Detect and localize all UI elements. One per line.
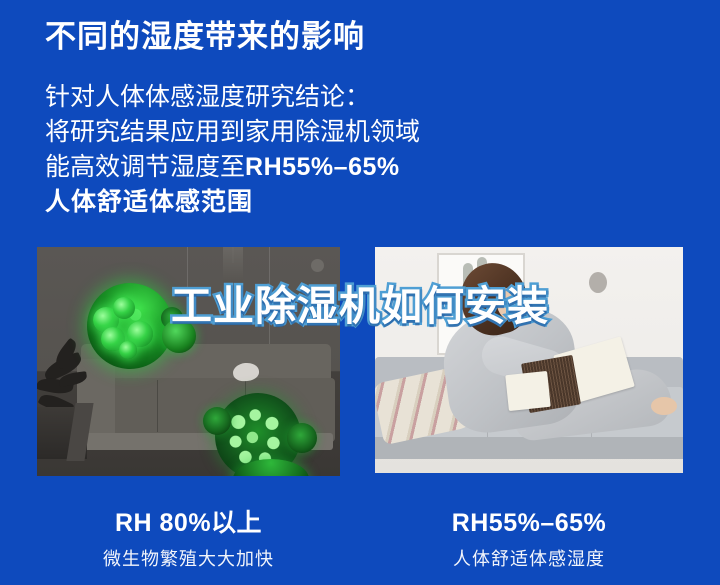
caption-damp-subtitle: 微生物繁殖大大加快 (37, 545, 340, 571)
caption-damp: RH 80%以上 微生物繁殖大大加快 (37, 508, 340, 571)
caption-damp-title: RH 80%以上 (37, 508, 340, 538)
microbe-virus-satellite-1 (203, 407, 231, 435)
light-sofa-base (375, 437, 683, 459)
overlay-title: 工业除湿机如何安装 (0, 272, 720, 332)
intro-copy-line-3-text: 能高效调节湿度至 (45, 153, 245, 181)
intro-copy-block: 针对人体体感湿度研究结论： 将研究结果应用到家用除湿机领域 能高效调节湿度至RH… (45, 80, 420, 220)
dark-sofa-cushion-seam-1 (157, 380, 158, 432)
intro-copy-rh-range: RH55%–65% (245, 153, 400, 181)
person-foot (651, 397, 677, 415)
book-page-left (505, 371, 551, 411)
intro-copy-line-3: 能高效调节湿度至RH55%–65% (45, 150, 420, 185)
plant-pot (37, 407, 87, 459)
humidity-infographic-poster: 不同的湿度带来的影响 针对人体体感湿度研究结论： 将研究结果应用到家用除湿机领域… (0, 0, 720, 585)
caption-comfort: RH55%–65% 人体舒适体感湿度 (375, 508, 683, 571)
page-title: 不同的湿度带来的影响 (45, 18, 365, 57)
intro-copy-line-2: 将研究结果应用到家用除湿机领域 (45, 115, 420, 150)
intro-copy-line-1: 针对人体体感湿度研究结论： (45, 80, 420, 115)
caption-comfort-subtitle: 人体舒适体感湿度 (375, 545, 683, 571)
intro-copy-line-4: 人体舒适体感范围 (45, 185, 420, 220)
microbe-cell-5 (119, 341, 137, 359)
microbe-virus-satellite-2 (287, 423, 317, 453)
wall-speaker-icon (311, 259, 324, 272)
caption-comfort-title: RH55%–65% (375, 508, 683, 538)
